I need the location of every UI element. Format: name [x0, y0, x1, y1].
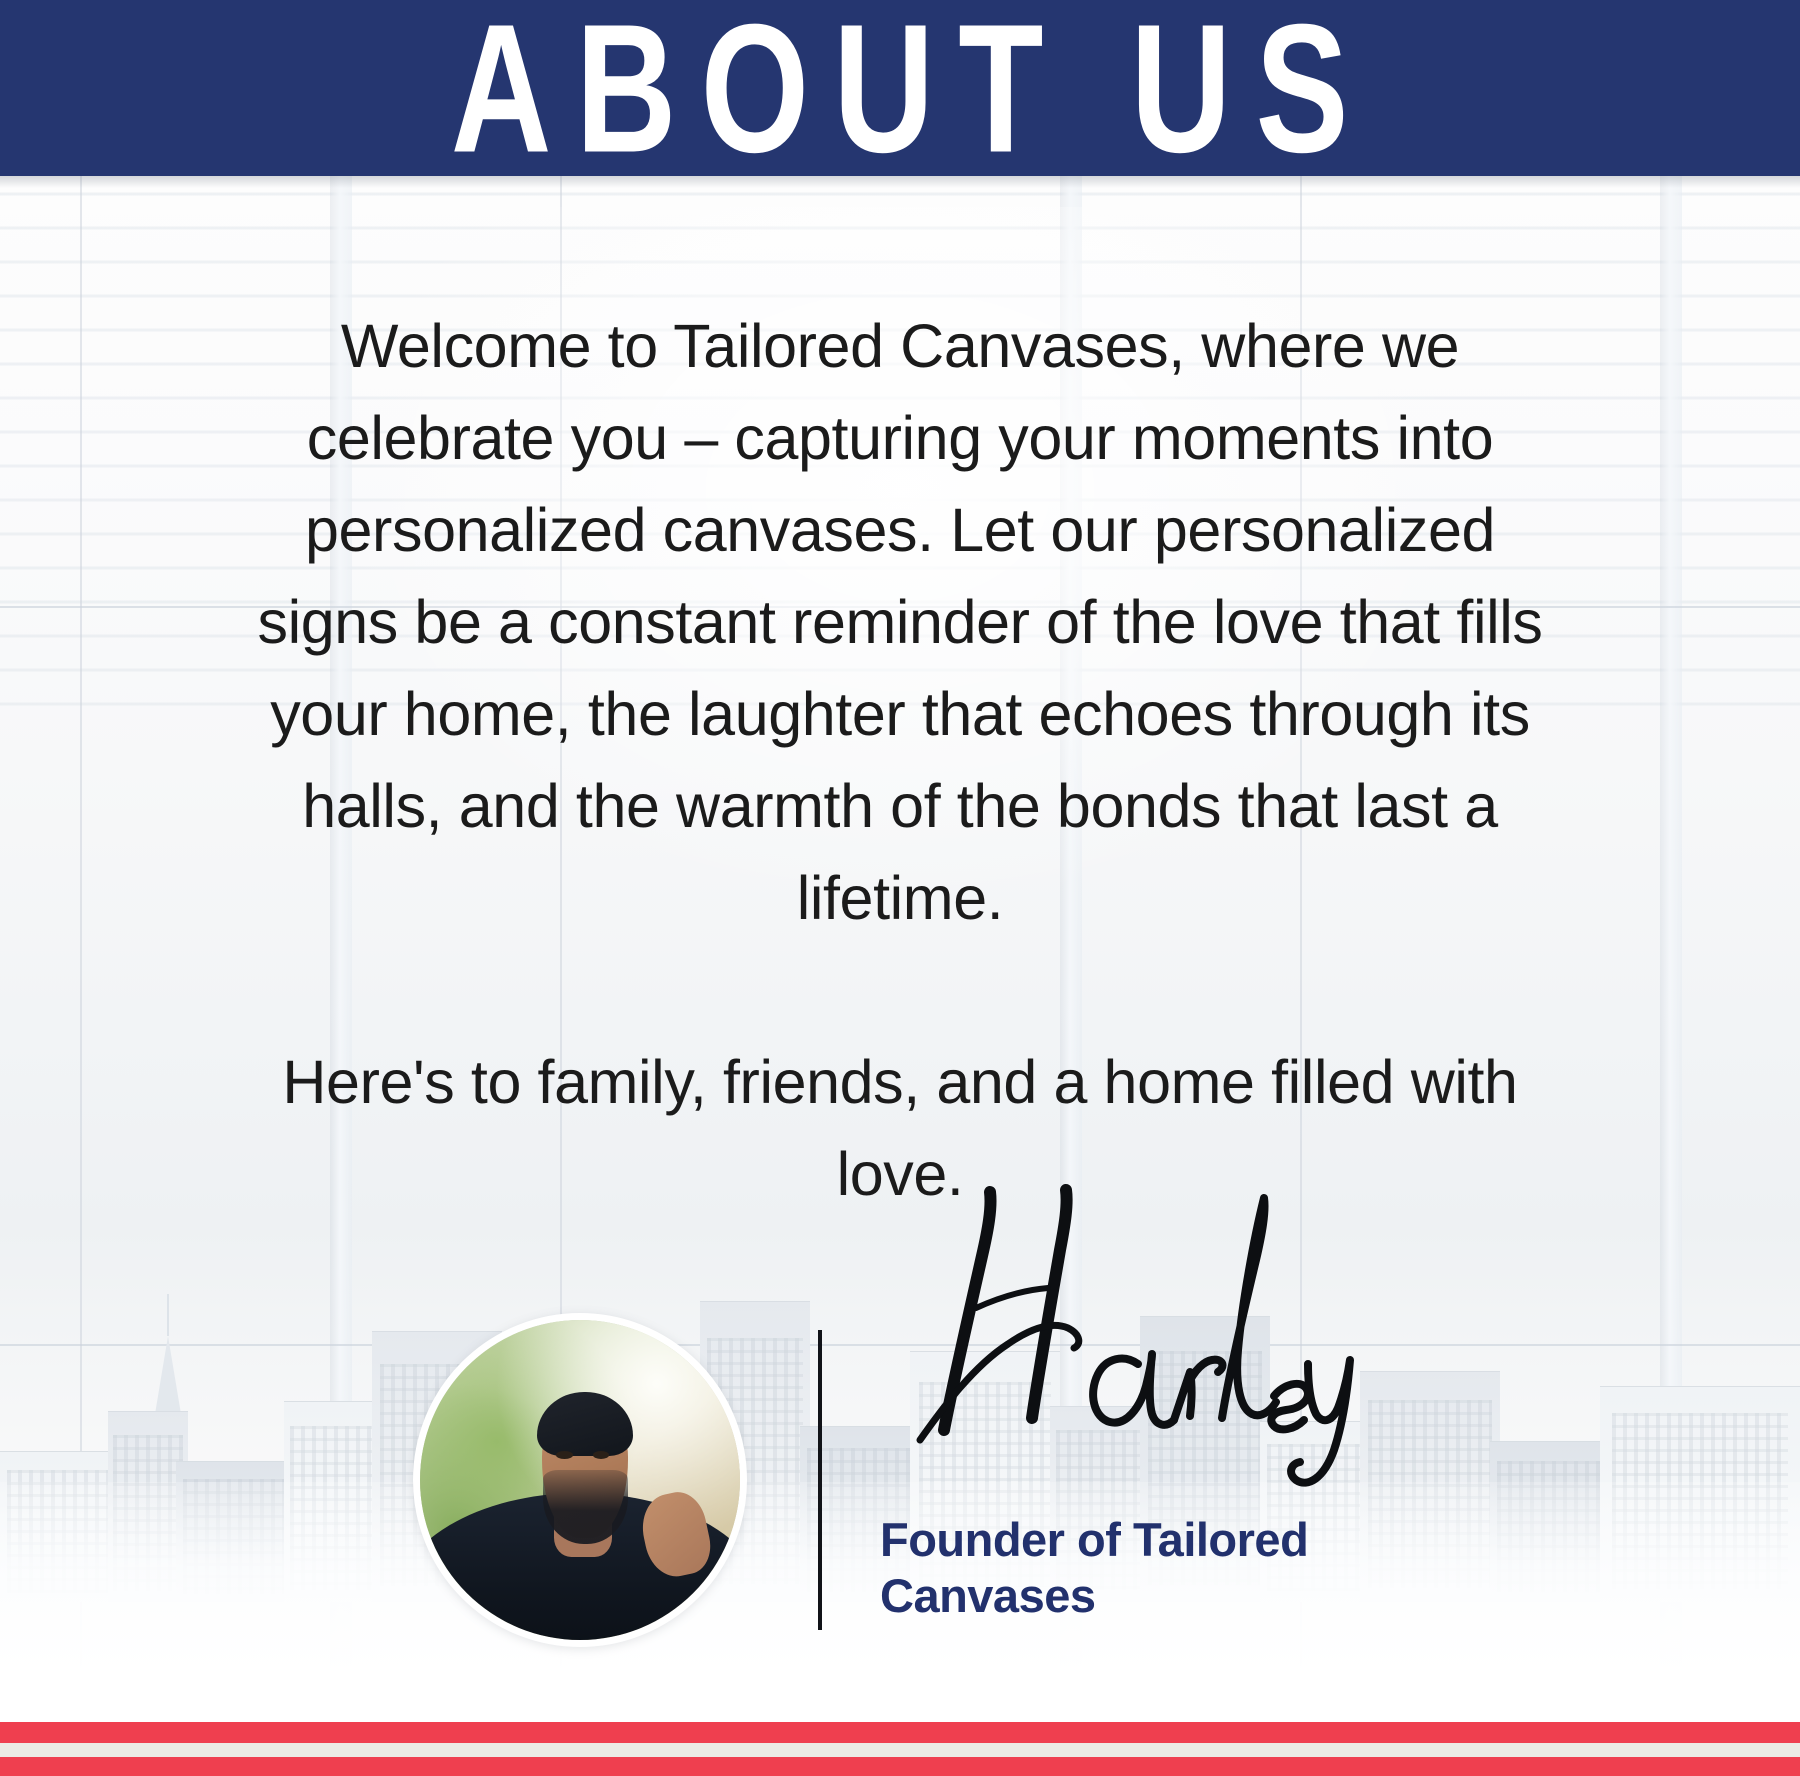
- about-paragraph-1: Welcome to Tailored Canvases, where we c…: [250, 300, 1550, 944]
- skyline-spire: [155, 1336, 181, 1414]
- about-copy: Welcome to Tailored Canvases, where we c…: [250, 300, 1550, 1220]
- signature-role-line-1: Founder of Tailored: [880, 1512, 1400, 1568]
- footer-stripe-top: [0, 1722, 1800, 1743]
- footer-stripe-bottom: [0, 1757, 1800, 1776]
- signature-role-line-2: Canvases: [880, 1568, 1400, 1624]
- header-bar: ABOUT US: [0, 0, 1800, 176]
- page-title: ABOUT US: [427, 0, 1373, 180]
- signature-divider: [818, 1330, 822, 1630]
- avatar-eye: [556, 1451, 573, 1459]
- avatar-hair: [537, 1392, 633, 1456]
- about-paragraph-2: Here's to family, friends, and a home fi…: [250, 1036, 1550, 1220]
- footer-stripe-gap: [0, 1743, 1800, 1757]
- about-us-poster: ABOUT US Welcome to Tailored Canvases, w…: [0, 0, 1800, 1776]
- avatar-eye: [593, 1451, 610, 1459]
- paragraph-spacer: [250, 944, 1550, 1036]
- avatar: [413, 1313, 747, 1647]
- avatar-photo: [420, 1320, 740, 1640]
- header-shadow: [0, 176, 1800, 188]
- signature-role: Founder of Tailored Canvases: [880, 1512, 1400, 1624]
